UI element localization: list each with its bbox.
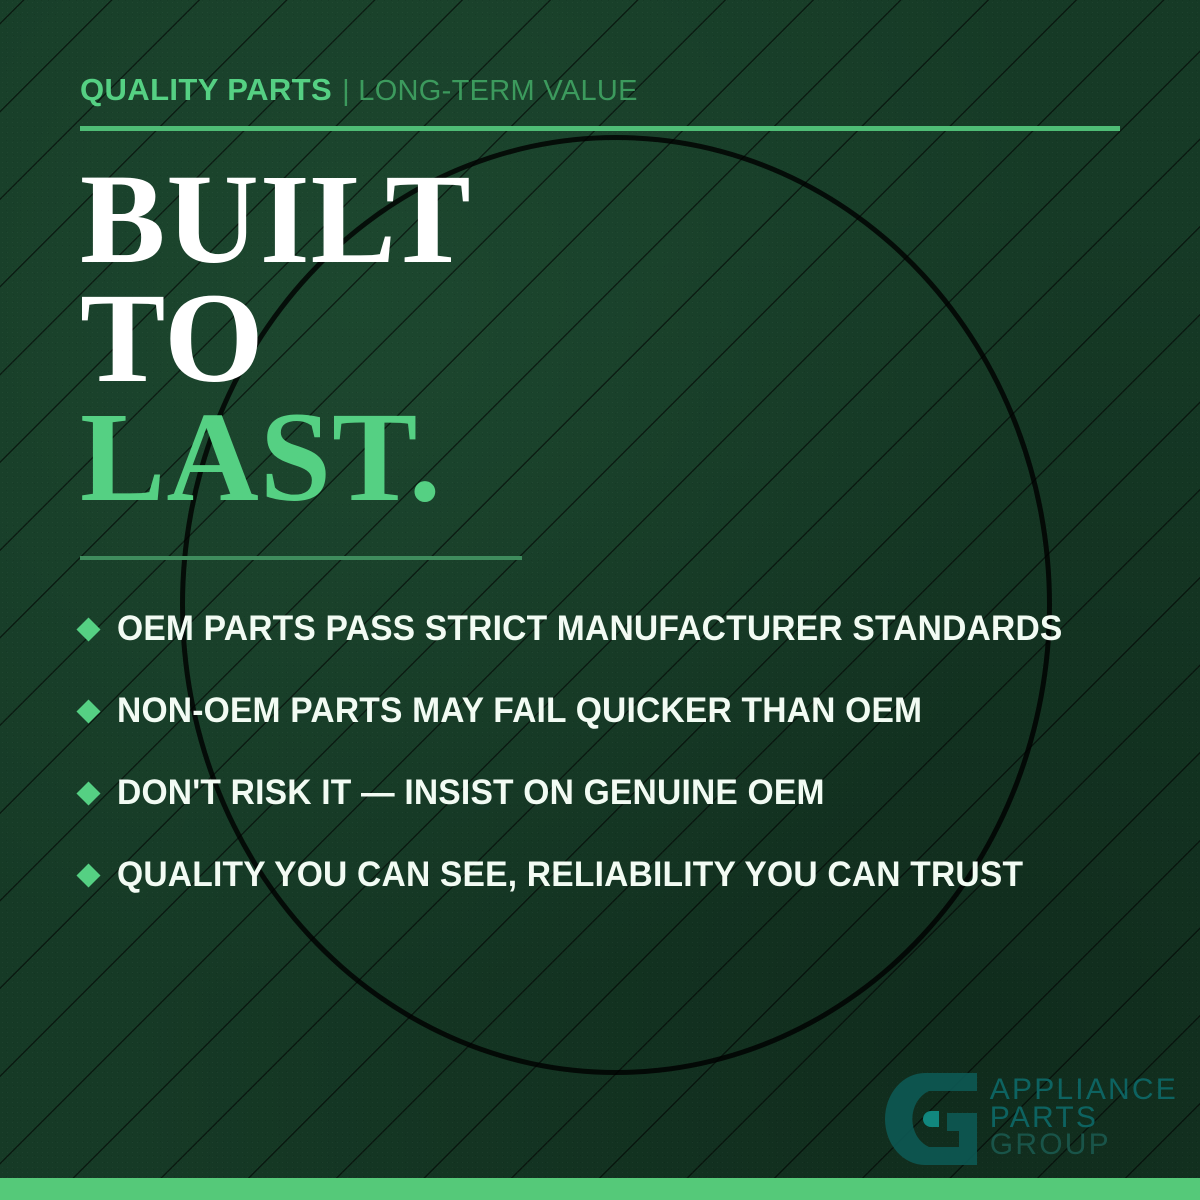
headline-line-1: BUILT <box>80 160 472 279</box>
headline-divider-rule <box>80 556 522 560</box>
kicker-sub-label: | LONG-TERM VALUE <box>342 75 638 108</box>
diamond-bullet-icon <box>76 617 100 641</box>
brand-word-2: PARTS <box>990 1104 1178 1132</box>
list-item-label: DON'T RISK IT — INSIST ON GENUINE OEM <box>117 773 825 813</box>
brand-logo-wordmark: APPLIANCE PARTS GROUP <box>990 1073 1178 1159</box>
kicker: QUALITY PARTS | LONG-TERM VALUE <box>80 72 638 108</box>
poster-canvas: QUALITY PARTS | LONG-TERM VALUE BUILT TO… <box>0 0 1200 1200</box>
list-item: OEM PARTS PASS STRICT MANUFACTURER STAND… <box>80 588 1140 670</box>
header-divider-rule <box>80 126 1120 131</box>
list-item-label: NON-OEM PARTS MAY FAIL QUICKER THAN OEM <box>117 691 922 731</box>
list-item: NON-OEM PARTS MAY FAIL QUICKER THAN OEM <box>80 670 1140 752</box>
diamond-bullet-icon <box>76 781 100 805</box>
list-item: DON'T RISK IT — INSIST ON GENUINE OEM <box>80 752 1140 834</box>
diamond-bullet-icon <box>76 699 100 723</box>
poster-content: QUALITY PARTS | LONG-TERM VALUE BUILT TO… <box>0 0 1200 1200</box>
list-item-label: OEM PARTS PASS STRICT MANUFACTURER STAND… <box>117 609 1063 649</box>
headline-line-2: TO <box>80 279 472 398</box>
g-monogram-icon <box>885 1073 977 1170</box>
page-title: BUILT TO LAST. <box>80 160 472 517</box>
brand-word-3: GROUP <box>990 1131 1178 1159</box>
list-item: QUALITY YOU CAN SEE, RELIABILITY YOU CAN… <box>80 834 1140 916</box>
brand-logo: APPLIANCE PARTS GROUP <box>885 1073 1178 1170</box>
diamond-bullet-icon <box>76 863 100 887</box>
brand-word-1: APPLIANCE <box>990 1076 1178 1104</box>
list-item-label: QUALITY YOU CAN SEE, RELIABILITY YOU CAN… <box>117 855 1023 895</box>
kicker-main-label: QUALITY PARTS <box>80 72 332 108</box>
headline-line-3: LAST. <box>80 398 472 517</box>
benefits-list: OEM PARTS PASS STRICT MANUFACTURER STAND… <box>80 588 1140 916</box>
